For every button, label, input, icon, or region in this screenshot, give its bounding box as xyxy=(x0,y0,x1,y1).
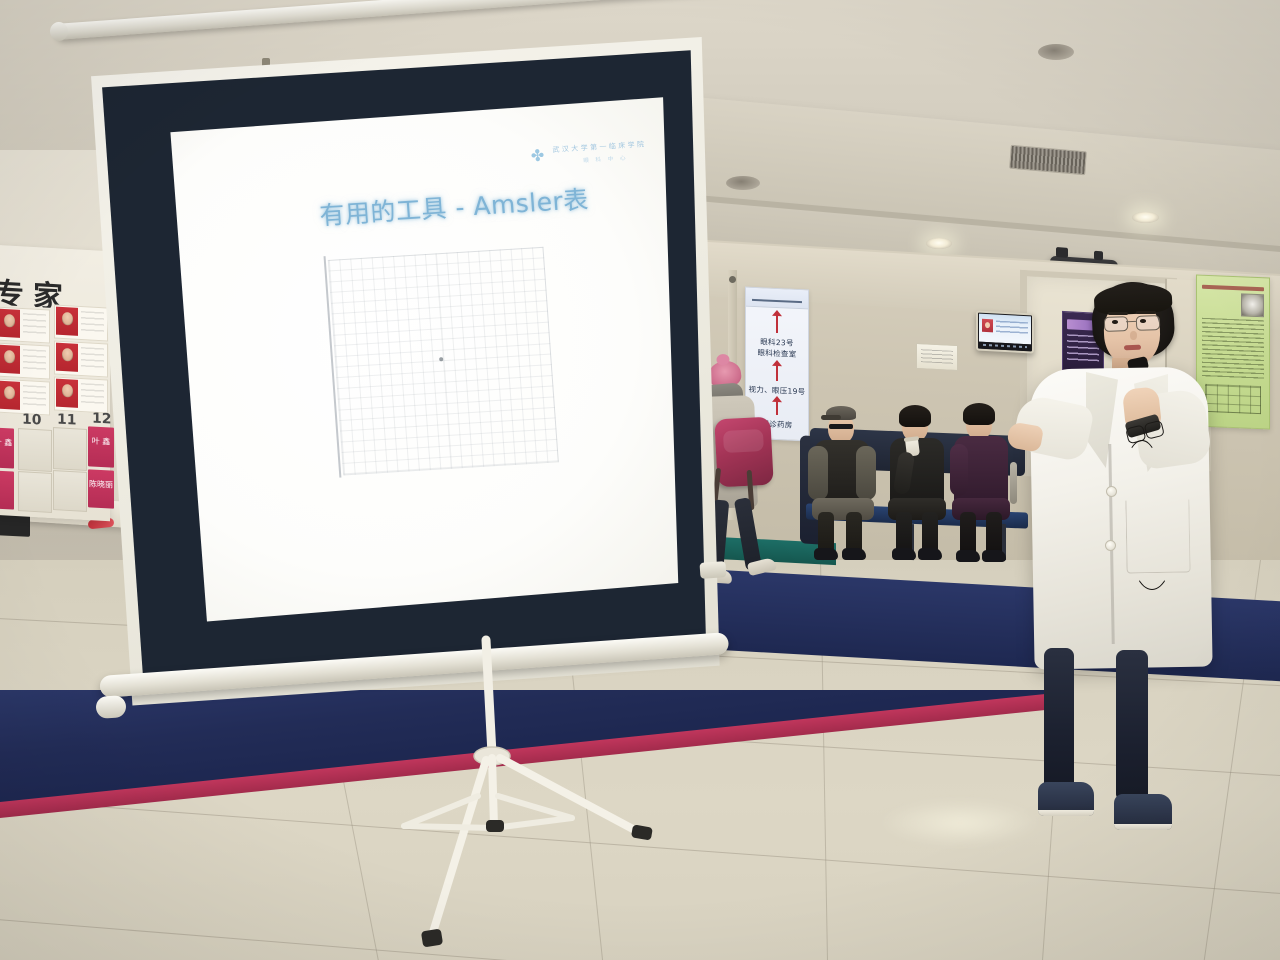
tv-screen-content xyxy=(979,314,1031,345)
tv-display xyxy=(976,310,1034,353)
eyebrow xyxy=(1136,311,1156,314)
lens-left xyxy=(1104,316,1129,332)
poster-image-icon xyxy=(1241,293,1264,317)
poster-heading-band xyxy=(1202,285,1264,292)
hair xyxy=(963,403,995,425)
ceiling-light-recess-icon xyxy=(1038,44,1074,60)
shoe xyxy=(842,548,866,560)
poster-table xyxy=(1205,384,1261,414)
logo-text-primary: 武汉大学第一临床学院 xyxy=(552,139,647,155)
eyebrow xyxy=(1108,312,1128,315)
coat-button xyxy=(1105,540,1116,551)
mic-cord xyxy=(1130,498,1174,590)
screen-pull-handle[interactable] xyxy=(699,561,726,579)
logo-text-secondary: 眼 科 中 心 xyxy=(583,153,628,164)
amsler-grid-chart xyxy=(328,247,559,476)
wall-notice-small xyxy=(916,343,958,371)
sunglasses-icon xyxy=(829,424,853,429)
shoe xyxy=(814,548,838,560)
tv-bottom-bar xyxy=(979,342,1031,352)
nose xyxy=(1130,331,1137,340)
ceiling-downlight-icon xyxy=(926,238,952,249)
shoe-left xyxy=(1038,782,1094,816)
screen-weight-bar-cap xyxy=(95,695,126,719)
shoe xyxy=(956,550,980,562)
up-arrow-icon xyxy=(776,315,778,333)
screen-roller-housing xyxy=(55,0,754,40)
up-arrow-icon xyxy=(776,401,778,415)
mouth xyxy=(1124,345,1141,351)
slide-title: 有用的工具 - Amsler表 xyxy=(318,180,590,232)
up-arrow-icon xyxy=(776,365,778,381)
sleeve xyxy=(950,444,968,496)
ceiling-downlight-icon xyxy=(1132,212,1159,223)
coat-button xyxy=(1106,486,1117,497)
cap-icon xyxy=(826,406,856,420)
eye xyxy=(1140,319,1146,323)
tv-portrait-icon xyxy=(982,319,993,333)
lens-right xyxy=(1136,315,1161,331)
shoe-right xyxy=(1114,794,1172,830)
sleeve-right xyxy=(856,446,876,500)
slide-content: 有用的工具 - Amsler表 ✤ 武汉大学第一临床学院 眼 科 中 心 xyxy=(210,126,711,594)
glasses-bridge xyxy=(1126,321,1136,323)
tv-text-lines xyxy=(996,321,1028,337)
chair-armrest xyxy=(1010,462,1017,504)
projection-screen-assembly: 有用的工具 - Amsler表 ✤ 武汉大学第一临床学院 眼 科 中 心 xyxy=(0,0,760,740)
eye xyxy=(1112,320,1118,324)
sleeve-left xyxy=(808,446,828,500)
shoe xyxy=(892,548,916,560)
logo-mark-icon: ✤ xyxy=(530,148,547,165)
leg-right xyxy=(1116,650,1148,800)
hair xyxy=(899,405,931,427)
poster-body-lines xyxy=(1202,318,1264,381)
shoe xyxy=(918,548,942,560)
photo-scene: 专家 10 11 12 叶 鑫 叶 鑫 陈晓丽 眼科23号 眼科检查室 xyxy=(0,0,1280,960)
shoe xyxy=(982,550,1006,562)
leg-left xyxy=(1044,648,1074,788)
